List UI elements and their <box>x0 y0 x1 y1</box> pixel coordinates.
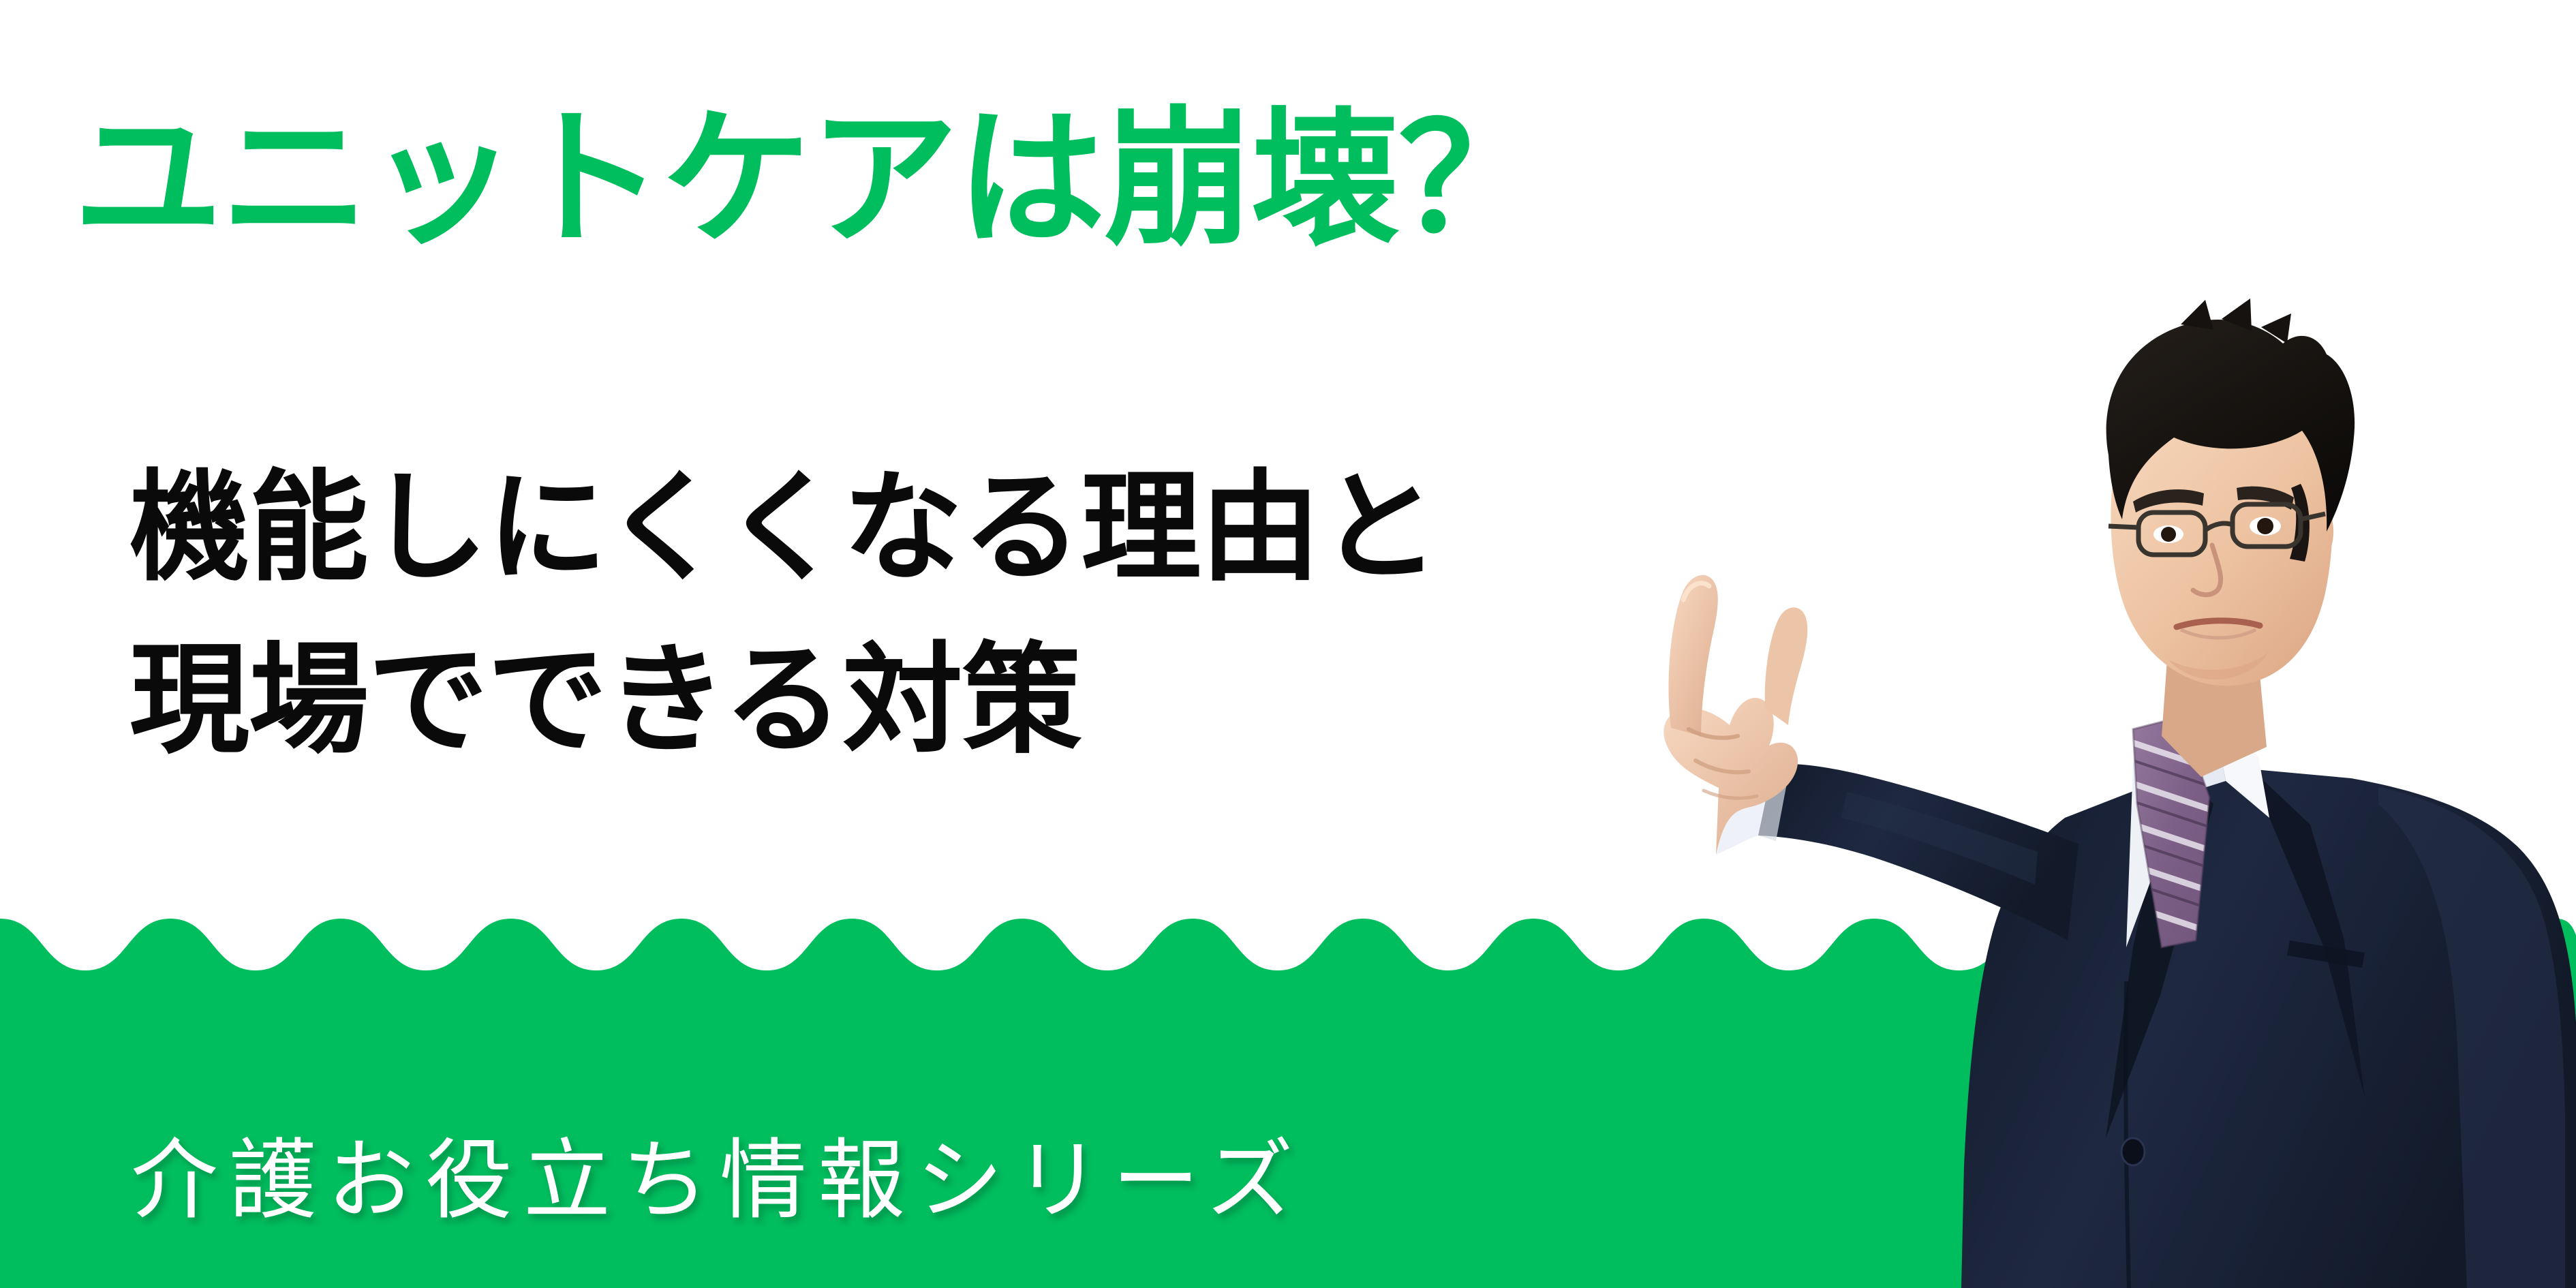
shirt-collar <box>2126 724 2269 947</box>
subtitle-line-2: 現場でできる対策 <box>129 614 1439 786</box>
banner-canvas: ユニットケアは崩壊？ 機能しにくくなる理由と 現場でできる対策 <box>0 0 2576 1288</box>
suit-jacket <box>1961 760 2576 1288</box>
necktie <box>2113 702 2235 961</box>
person-photo <box>1656 259 2576 1288</box>
headline-text: ユニットケアは崩壊？ <box>74 102 1546 258</box>
pointing-arm <box>1663 575 2079 940</box>
head <box>2106 298 2355 686</box>
subtitle-line-1: 機能しにくくなる理由と <box>129 442 1439 614</box>
series-label: 介護お役立ち情報シリーズ <box>131 1109 1304 1236</box>
glasses-icon <box>2109 504 2325 555</box>
subtitle-block: 機能しにくくなる理由と 現場でできる対策 <box>129 442 1439 787</box>
